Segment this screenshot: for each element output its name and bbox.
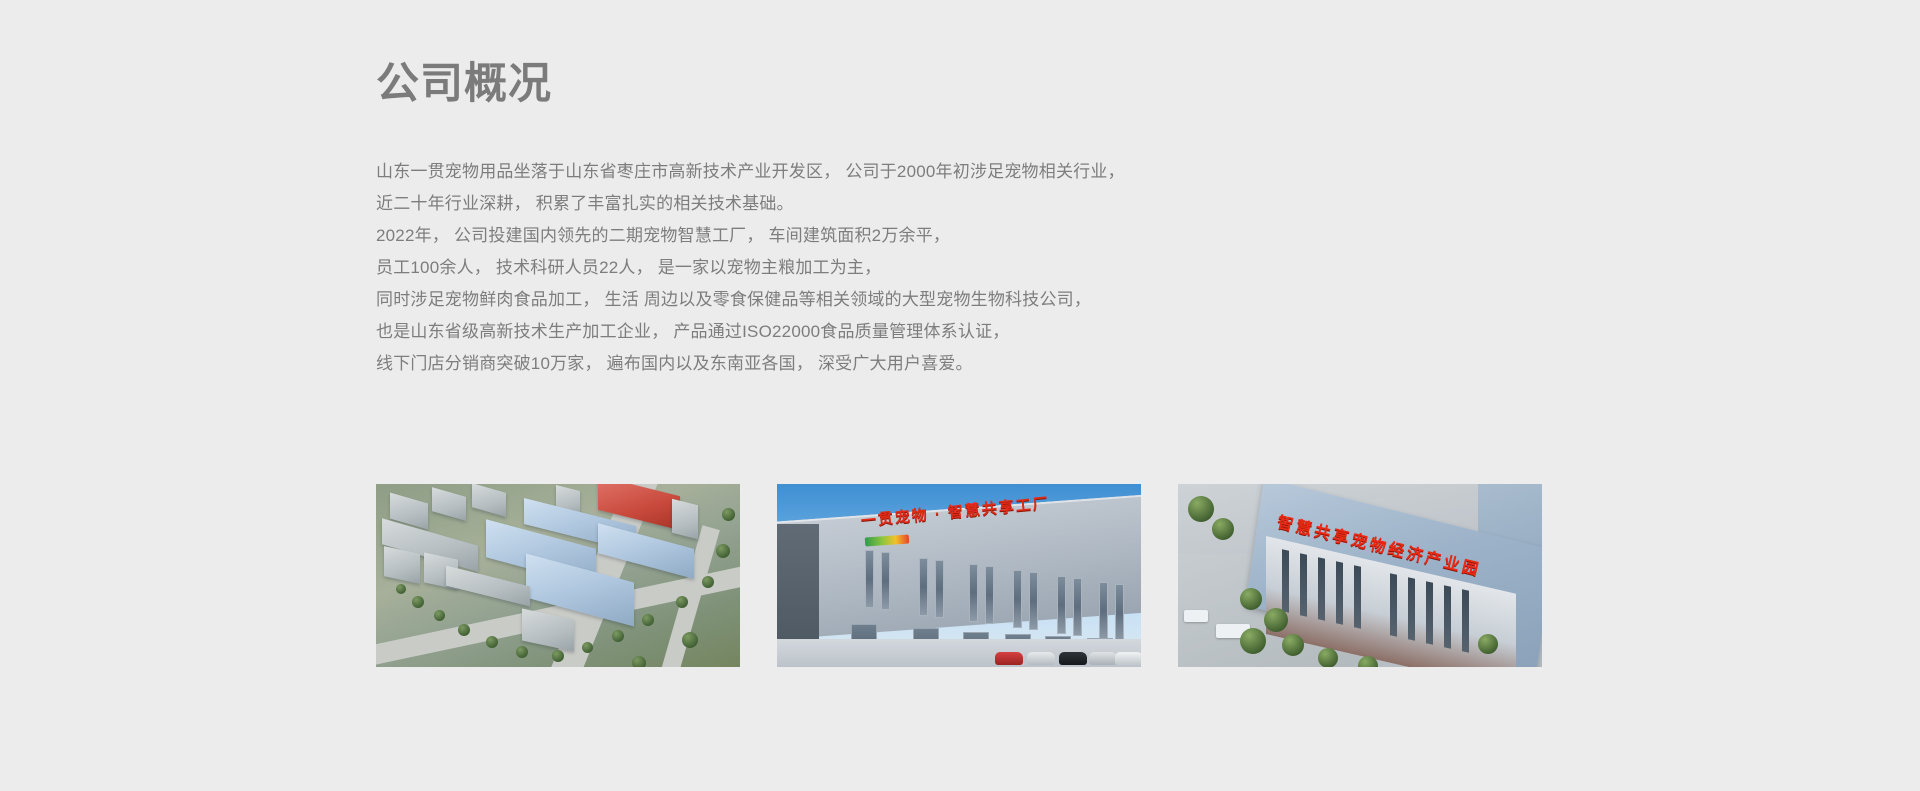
window-column: [1426, 581, 1433, 645]
building: [472, 484, 506, 517]
tree: [1240, 628, 1266, 654]
tree: [1264, 608, 1288, 632]
building: [446, 566, 530, 607]
tree: [1318, 648, 1338, 667]
tree: [676, 596, 688, 608]
tree: [722, 508, 735, 521]
description-line: 2022年， 公司投建国内领先的二期宠物智慧工厂， 车间建筑面积2万余平，: [376, 220, 1556, 252]
window: [1115, 584, 1124, 642]
factory-side-wall: [777, 524, 819, 654]
window: [1057, 576, 1066, 634]
car: [1059, 652, 1087, 665]
description-line: 也是山东省级高新技术生产加工企业， 产品通过ISO22000食品质量管理体系认证…: [376, 316, 1556, 348]
description-line: 同时涉足宠物鲜肉食品加工， 生活 周边以及零食保健品等相关领域的大型宠物生物科技…: [376, 284, 1556, 316]
tree: [486, 636, 498, 648]
tree: [716, 544, 730, 558]
car: [995, 652, 1023, 665]
window-column: [1282, 549, 1289, 613]
window-column: [1318, 557, 1325, 621]
window: [1029, 572, 1038, 630]
window: [1013, 570, 1022, 628]
tree: [1188, 496, 1214, 522]
facility-photo-gallery: 一贯宠物 · 智慧共享工厂: [376, 484, 1542, 667]
page-root: 公司概况 山东一贯宠物用品坐落于山东省枣庄市高新技术产业开发区， 公司于2000…: [0, 0, 1920, 791]
tree: [396, 584, 406, 594]
gallery-image-smart-shared-factory[interactable]: 一贯宠物 · 智慧共享工厂: [777, 484, 1141, 667]
window-column: [1336, 561, 1343, 625]
tree: [552, 650, 564, 662]
tree: [632, 656, 646, 667]
window-column: [1444, 585, 1451, 649]
tree: [1478, 634, 1498, 654]
tree: [516, 646, 528, 658]
window-column: [1300, 553, 1307, 617]
window: [919, 558, 928, 616]
tree: [458, 624, 470, 636]
window-column: [1354, 565, 1361, 629]
window: [1099, 582, 1108, 640]
building: [384, 546, 420, 584]
pet-economy-industrial-park-image: 智慧共享宠物经济产业园: [1178, 484, 1542, 667]
company-description: 山东一贯宠物用品坐落于山东省枣庄市高新技术产业开发区， 公司于2000年初涉足宠…: [376, 112, 1556, 380]
tree: [702, 576, 714, 588]
window: [865, 550, 874, 608]
building: [672, 499, 698, 539]
building: [432, 487, 466, 521]
page-title: 公司概况: [376, 0, 1556, 112]
description-line: 近二十年行业深耕， 积累了丰富扎实的相关技术基础。: [376, 188, 1556, 220]
window: [985, 566, 994, 624]
tree: [582, 642, 593, 653]
car: [1027, 652, 1055, 665]
description-line: 员工100余人， 技术科研人员22人， 是一家以宠物主粮加工为主，: [376, 252, 1556, 284]
window-column: [1462, 589, 1469, 653]
gallery-image-aerial-industrial-park[interactable]: [376, 484, 740, 667]
tree: [1282, 634, 1304, 656]
window: [881, 552, 890, 610]
tree: [612, 630, 624, 642]
window: [1073, 578, 1082, 636]
window-column: [1390, 573, 1397, 637]
car: [1089, 652, 1117, 665]
tree: [434, 610, 445, 621]
tree: [1240, 588, 1262, 610]
bus: [1184, 610, 1208, 622]
window-column: [1408, 577, 1415, 641]
aerial-industrial-park-image: [376, 484, 740, 667]
window: [969, 564, 978, 622]
factory-facade: [777, 494, 1141, 640]
smart-shared-factory-image: 一贯宠物 · 智慧共享工厂: [777, 484, 1141, 667]
tree: [412, 596, 424, 608]
window: [935, 560, 944, 618]
content-column: 公司概况 山东一贯宠物用品坐落于山东省枣庄市高新技术产业开发区， 公司于2000…: [376, 0, 1556, 380]
description-line: 山东一贯宠物用品坐落于山东省枣庄市高新技术产业开发区， 公司于2000年初涉足宠…: [376, 156, 1556, 188]
tree: [682, 632, 698, 648]
tree: [642, 614, 654, 626]
tree: [1212, 518, 1234, 540]
gallery-image-pet-economy-industrial-park[interactable]: 智慧共享宠物经济产业园: [1178, 484, 1542, 667]
description-line: 线下门店分销商突破10万家， 遍布国内以及东南亚各国， 深受广大用户喜爱。: [376, 348, 1556, 380]
car: [1115, 652, 1141, 665]
